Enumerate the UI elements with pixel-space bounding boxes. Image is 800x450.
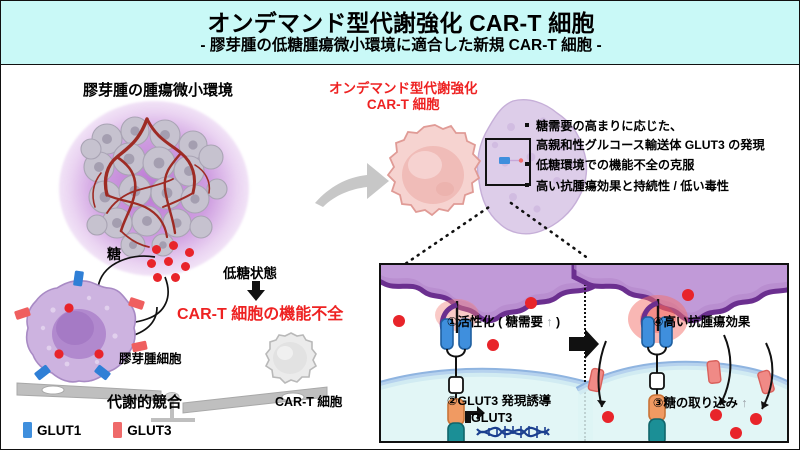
inactive-cart-cell-label: CAR-T 細胞	[275, 391, 342, 410]
legend: GLUT1 GLUT3	[23, 422, 172, 438]
down-arrow-icon	[245, 281, 267, 301]
step-3-arrow: ↑	[741, 396, 747, 410]
bullet-1-line2: 高親和性グルコース輸送体 GLUT3 の発現	[536, 136, 793, 155]
bullet-item-2: 低糖環境での機能不全の克服	[525, 156, 793, 175]
on-demand-cart-heading: オンデマンド型代謝強化 CAR-T 細胞	[329, 81, 478, 114]
step-1-text: ①活性化 ( 糖需要	[447, 315, 546, 329]
metabolic-competition-label: 代謝的競合	[107, 391, 182, 412]
glut3-swatch-icon	[113, 422, 122, 438]
benefit-bullets: 糖需要の高まりに応じた、 高親和性グルコース輸送体 GLUT3 の発現 低糖環境…	[525, 117, 793, 197]
on-demand-heading-line2: CAR-T 細胞	[367, 97, 440, 112]
callout-receptor-icon	[497, 151, 523, 171]
panel-right-illustration	[584, 265, 789, 441]
glut1-swatch-icon	[23, 422, 32, 438]
step-4-label: ④高い抗腫瘍効果	[653, 312, 750, 330]
tumor-mass-illustration	[77, 113, 229, 261]
page-title: オンデマンド型代謝強化 CAR-T 細胞	[207, 11, 594, 35]
step-1-label: ①活性化 ( 糖需要 ↑ )	[447, 312, 560, 330]
bullet-3-line1: 高い抗腫瘍効果と持続性 / 低い毒性	[536, 179, 729, 193]
low-glucose-label: 低糖状態	[223, 262, 277, 282]
mechanism-detail-panel: ①活性化 ( 糖需要 ↑ ) ②GLUT3 発現誘導 GLUT3 ③糖の取り込み…	[379, 263, 789, 443]
step-2-label: ②GLUT3 発現誘導	[447, 391, 551, 409]
bullet-item-1: 糖需要の高まりに応じた、 高親和性グルコース輸送体 GLUT3 の発現	[525, 117, 793, 154]
tme-title: 膠芽腫の腫瘍微小環境	[83, 79, 233, 100]
bullet-item-3: 高い抗腫瘍効果と持続性 / 低い毒性	[525, 177, 793, 196]
step-4-text: ④高い抗腫瘍効果	[653, 315, 750, 329]
inactive-cart-cell	[263, 331, 319, 387]
legend-item-glut3: GLUT3	[113, 422, 171, 438]
figure-root: オンデマンド型代謝強化 CAR-T 細胞 - 膠芽腫の低糖腫瘍微小環境に適合した…	[0, 0, 800, 450]
legend-label-glut3: GLUT3	[127, 423, 171, 438]
step-3-label: ③糖の取り込み ↑	[653, 393, 747, 411]
legend-label-glut1: GLUT1	[37, 423, 81, 438]
bullet-1-line1: 糖需要の高まりに応じた、	[536, 119, 682, 133]
glut3-gene-label: GLUT3	[471, 411, 512, 425]
page-subtitle: - 膠芽腫の低糖腫瘍微小環境に適合した新規 CAR-T 細胞 -	[200, 38, 601, 54]
step-2-text: ②GLUT3 発現誘導	[447, 394, 551, 408]
step-3-text: ③糖の取り込み	[653, 396, 741, 410]
figure-header: オンデマンド型代謝強化 CAR-T 細胞 - 膠芽腫の低糖腫瘍微小環境に適合した…	[1, 1, 800, 65]
dysfunction-label: CAR-T 細胞の機能不全	[177, 300, 343, 324]
on-demand-heading-line1: オンデマンド型代謝強化	[329, 81, 478, 96]
bullet-2-line1: 低糖環境での機能不全の克服	[536, 158, 694, 172]
legend-item-glut1: GLUT1	[23, 422, 81, 438]
step-1-suffix: )	[553, 315, 561, 329]
